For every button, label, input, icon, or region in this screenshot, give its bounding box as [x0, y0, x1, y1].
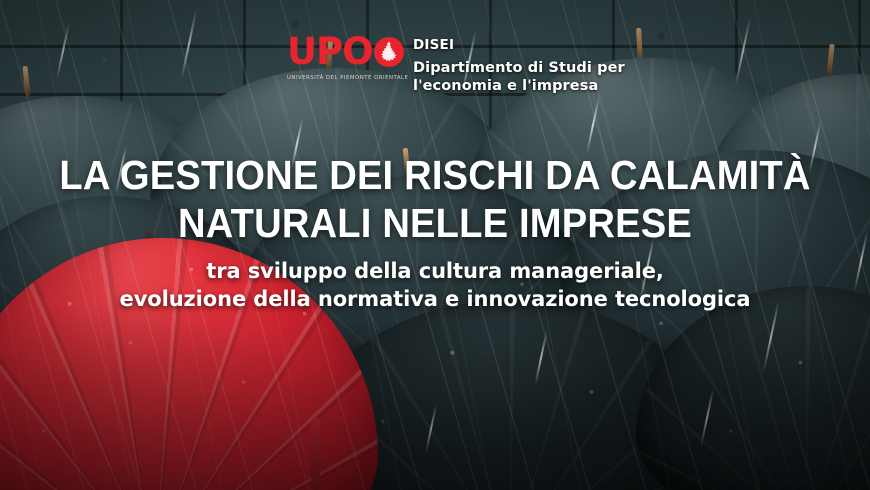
institutional-header: UPO UNIVERSITÀ DEL PIEMONTE ORIENTALE DI…	[287, 33, 625, 96]
department-name-line-2: l'economia e l'impresa	[413, 77, 625, 95]
poster-title-line-1: LA GESTIONE DEI RISCHI DA CALAMITÀ	[30, 152, 839, 200]
poster-content: UPO UNIVERSITÀ DEL PIEMONTE ORIENTALE DI…	[0, 0, 870, 490]
upo-logo-tagline: UNIVERSITÀ DEL PIEMONTE ORIENTALE	[287, 75, 399, 81]
department-name-line-1: Dipartimento di Studi per	[413, 59, 625, 77]
upo-logo: UPO UNIVERSITÀ DEL PIEMONTE ORIENTALE	[287, 33, 399, 81]
poster-subtitle-line-1: tra sviluppo della cultura manageriale,	[0, 258, 870, 286]
department-block: DISEI Dipartimento di Studi per l'econom…	[413, 33, 625, 96]
upo-wordmark-text: UPO	[287, 33, 373, 70]
poster-subtitle: tra sviluppo della cultura manageriale, …	[0, 258, 870, 314]
piedmont-region-map-icon	[374, 37, 404, 67]
upo-wordmark: UPO	[287, 33, 399, 70]
poster-title: LA GESTIONE DEI RISCHI DA CALAMITÀ NATUR…	[30, 152, 839, 247]
department-name: Dipartimento di Studi per l'economia e l…	[413, 59, 625, 96]
department-acronym: DISEI	[413, 37, 625, 54]
poster-title-line-2: NATURALI NELLE IMPRESE	[30, 200, 839, 248]
poster-canvas: UPO UNIVERSITÀ DEL PIEMONTE ORIENTALE DI…	[0, 0, 870, 490]
poster-subtitle-line-2: evoluzione della normativa e innovazione…	[0, 286, 870, 314]
